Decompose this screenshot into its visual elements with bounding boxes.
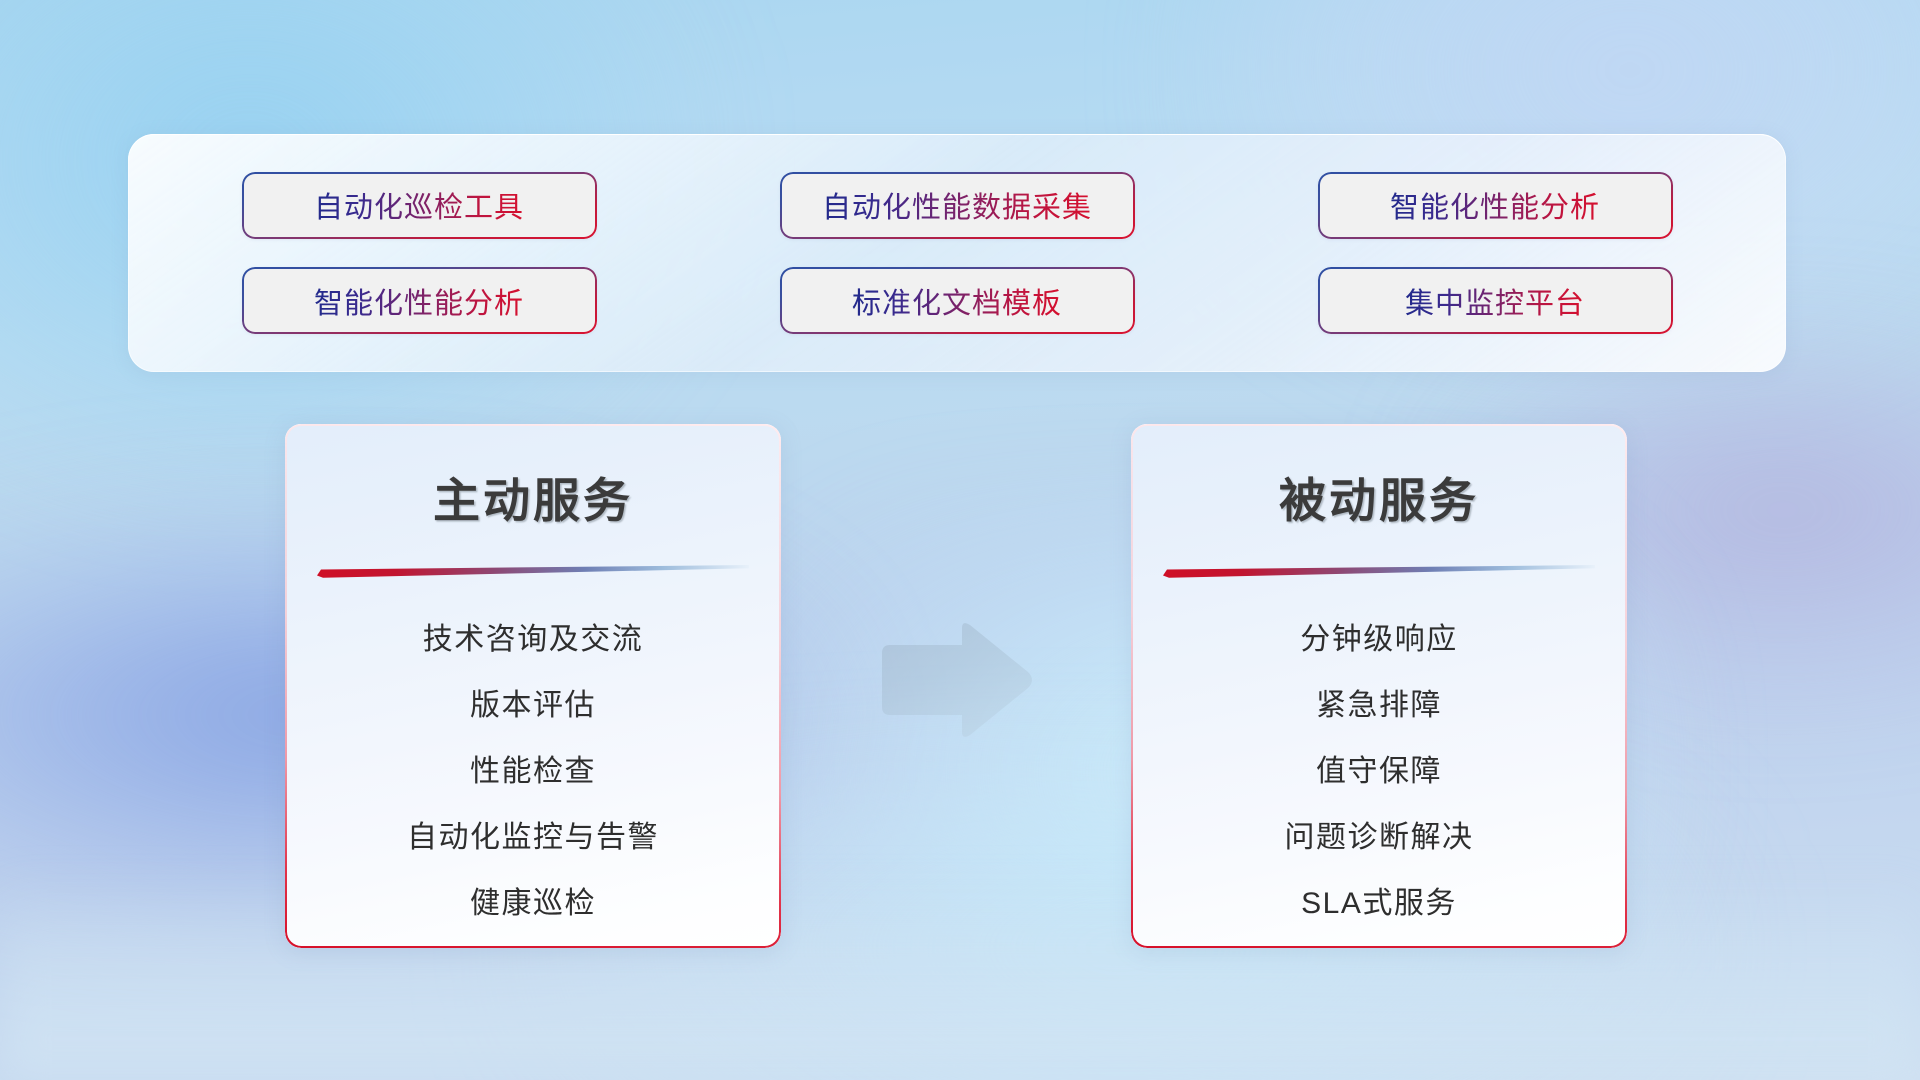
list-item: 问题诊断解决 xyxy=(1131,805,1627,871)
tool-pill-6[interactable]: 集中监控平台 xyxy=(1318,267,1673,334)
card-divider-accent xyxy=(1163,565,1595,578)
tool-pill-5[interactable]: 标准化文档模板 xyxy=(780,267,1135,334)
tool-pill-1[interactable]: 自动化巡检工具 xyxy=(242,172,597,239)
list-item: 分钟级响应 xyxy=(1131,607,1627,673)
tool-pill-label: 自动化性能数据采集 xyxy=(822,184,1092,226)
card-list: 技术咨询及交流 版本评估 性能检查 自动化监控与告警 健康巡检 xyxy=(285,607,781,937)
arrow-right-icon xyxy=(876,620,1036,740)
service-card-proactive: 主动服务 技术咨询及交流 版本评估 性能检查 自动化监控与告警 健康巡检 xyxy=(285,424,781,948)
list-item: 性能检查 xyxy=(285,739,781,805)
card-list: 分钟级响应 紧急排障 值守保障 问题诊断解决 SLA式服务 xyxy=(1131,607,1627,937)
tool-pill-3[interactable]: 智能化性能分析 xyxy=(1318,172,1673,239)
tools-panel: 自动化巡检工具 自动化性能数据采集 智能化性能分析 智能化性能分析 标准化文档模… xyxy=(128,134,1786,372)
service-card-reactive: 被动服务 分钟级响应 紧急排障 值守保障 问题诊断解决 SLA式服务 xyxy=(1131,424,1627,948)
tool-pill-2[interactable]: 自动化性能数据采集 xyxy=(780,172,1135,239)
tool-pill-label: 自动化巡检工具 xyxy=(314,184,524,226)
tool-pill-label: 集中监控平台 xyxy=(1405,280,1585,322)
tools-grid: 自动化巡检工具 自动化性能数据采集 智能化性能分析 智能化性能分析 标准化文档模… xyxy=(128,134,1786,372)
list-item: 版本评估 xyxy=(285,673,781,739)
list-item: 自动化监控与告警 xyxy=(285,805,781,871)
list-item: 值守保障 xyxy=(1131,739,1627,805)
card-title: 被动服务 xyxy=(1131,462,1627,531)
tool-pill-label: 标准化文档模板 xyxy=(852,280,1062,322)
tool-pill-4[interactable]: 智能化性能分析 xyxy=(242,267,597,334)
list-item: SLA式服务 xyxy=(1131,871,1627,937)
card-divider-accent xyxy=(317,565,749,578)
tool-pill-label: 智能化性能分析 xyxy=(1390,184,1600,226)
tool-pill-label: 智能化性能分析 xyxy=(314,280,524,322)
list-item: 紧急排障 xyxy=(1131,673,1627,739)
list-item: 技术咨询及交流 xyxy=(285,607,781,673)
list-item: 健康巡检 xyxy=(285,871,781,937)
card-title: 主动服务 xyxy=(285,462,781,531)
